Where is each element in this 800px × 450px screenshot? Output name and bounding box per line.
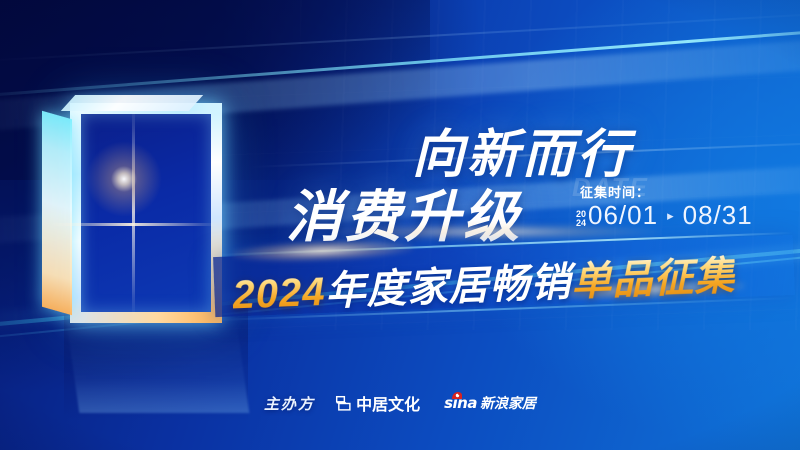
zhongju-logo-icon — [335, 395, 352, 412]
portal-side-wall — [42, 111, 72, 316]
organizer-name-zhongju: 中居文化 — [356, 391, 420, 415]
promo-banner: 向新而行 消费升级 DATE 征集时间： 20 24 06/01 ▸ 08/31… — [0, 0, 800, 450]
subtitle-tail: 单品征集 — [570, 254, 736, 304]
date-separator-icon: ▸ — [667, 208, 674, 224]
date-block: DATE 征集时间： 20 24 06/01 ▸ 08/31 — [566, 176, 796, 238]
door-portal-graphic — [38, 95, 238, 325]
organizer-logo-zhongju[interactable]: 中居文化 — [335, 391, 420, 415]
footer-sponsors: 主办方 中居文化 sina — [0, 388, 800, 418]
date-start: 06/01 — [588, 200, 658, 231]
subtitle-middle: 年度家居畅销 — [325, 260, 573, 313]
date-label: 征集时间： — [580, 182, 650, 201]
organizer-label: 主办方 — [264, 393, 315, 414]
portal-star-flare-icon — [78, 133, 170, 225]
date-year-stack: 20 24 — [576, 210, 586, 231]
sina-eye-icon — [451, 387, 463, 396]
subtitle-year: 2024 — [232, 270, 327, 318]
date-year-bottom: 24 — [576, 219, 586, 228]
date-range-row: 20 24 06/01 ▸ 08/31 — [576, 200, 753, 231]
sina-wordmark: sina — [444, 394, 477, 413]
organizer-name-sina: 新浪家居 — [480, 393, 536, 413]
organizer-logo-sina[interactable]: sina 新浪家居 — [444, 393, 536, 413]
date-end: 08/31 — [683, 200, 753, 231]
